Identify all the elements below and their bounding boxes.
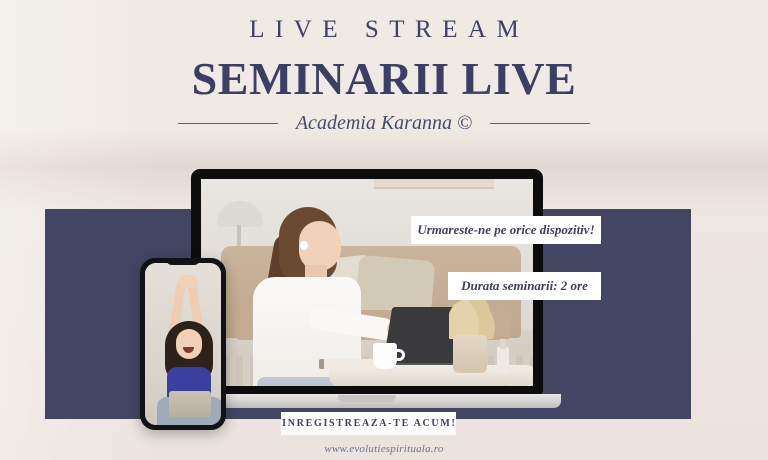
phone-photo-laptop bbox=[169, 391, 211, 417]
phone-notch bbox=[166, 258, 200, 265]
phone-photo-face bbox=[176, 329, 202, 359]
phone-screen bbox=[145, 263, 221, 425]
photo-mug bbox=[373, 343, 397, 369]
laptop-base-notch bbox=[338, 395, 396, 402]
register-button[interactable]: INREGISTREAZA-TE ACUM! bbox=[281, 412, 456, 435]
divider-line-left bbox=[178, 123, 278, 124]
photo-wall-art bbox=[374, 179, 494, 189]
poster-canvas: LIVE STREAM SEMINARII LIVE Academia Kara… bbox=[0, 0, 768, 460]
badge-duration: Durata seminarii: 2 ore bbox=[448, 272, 601, 300]
badge-device: Urmareste-ne pe orice dispozitiv! bbox=[411, 216, 601, 244]
phone-photo-hands bbox=[178, 275, 198, 288]
phone-mockup bbox=[140, 258, 226, 430]
website-url[interactable]: www.evolutiespirituala.ro bbox=[0, 443, 768, 455]
photo-woman-earbud bbox=[300, 241, 308, 250]
photo-table-leg bbox=[501, 385, 511, 386]
eyebrow-text: LIVE STREAM bbox=[0, 16, 768, 44]
divider-line-right bbox=[490, 123, 590, 124]
photo-vase bbox=[453, 335, 487, 373]
page-title: SEMINARII LIVE bbox=[0, 52, 768, 105]
photo-table-leg bbox=[351, 385, 361, 386]
photo-bottle bbox=[497, 347, 509, 373]
subtitle-row: Academia Karanna © bbox=[0, 112, 768, 135]
subtitle-text: Academia Karanna © bbox=[296, 112, 472, 135]
